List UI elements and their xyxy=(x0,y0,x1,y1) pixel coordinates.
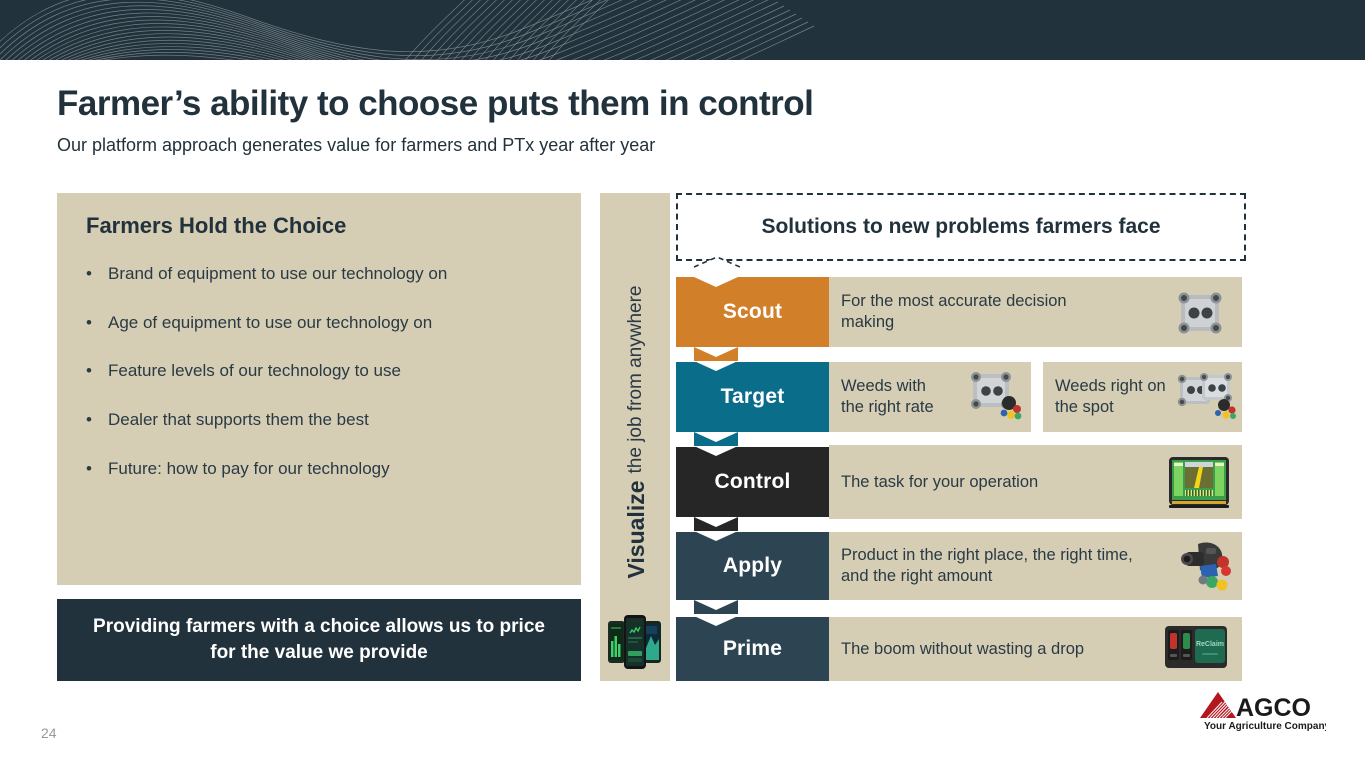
row-apply-label: Apply xyxy=(676,532,829,600)
row-target-label-text: Target xyxy=(721,385,785,409)
solutions-header-title: Solutions to new problems farmers face xyxy=(761,215,1160,239)
row-target-description-1-text: Weeds with the right rate xyxy=(829,376,951,417)
row-prime-label: Prime xyxy=(676,617,829,681)
chevron-notch-icon xyxy=(694,447,738,461)
list-item-label: Future: how to pay for our technology xyxy=(108,460,390,479)
header-decoration-band xyxy=(0,0,1365,60)
row-scout-description-text: For the most accurate decision making xyxy=(829,291,1111,332)
page-number: 24 xyxy=(41,725,57,741)
row-control: The task for your operation Control xyxy=(676,447,1242,517)
row-control-label-text: Control xyxy=(714,470,790,494)
terminal-display-image xyxy=(1168,455,1230,509)
chevron-notch-icon xyxy=(694,257,740,271)
page-subtitle: Our platform approach generates value fo… xyxy=(57,135,655,156)
chevron-notch-icon xyxy=(694,517,738,531)
farmers-choice-panel: Farmers Hold the Choice • Brand of equip… xyxy=(57,193,581,585)
phones-mockup-image xyxy=(607,615,663,669)
row-prime-label-text: Prime xyxy=(723,637,782,661)
chevron-notch-icon xyxy=(694,347,738,361)
row-scout-label: Scout xyxy=(676,277,829,347)
chevron-notch-icon xyxy=(694,432,738,446)
bullet-marker-icon: • xyxy=(86,265,108,284)
agco-wordmark: AGCO xyxy=(1236,694,1311,722)
page-title: Farmer’s ability to choose puts them in … xyxy=(57,84,813,124)
bullet-marker-icon: • xyxy=(86,460,108,479)
row-prime: The boom without wasting a drop ReClaim … xyxy=(676,617,1242,681)
agco-logo: AGCO Your Agriculture Company xyxy=(1196,688,1326,732)
list-item-label: Feature levels of our technology to use xyxy=(108,362,401,381)
list-item: • Future: how to pay for our technology xyxy=(86,460,556,479)
row-prime-description-text: The boom without wasting a drop xyxy=(829,639,1084,660)
value-callout-text: Providing farmers with a choice allows u… xyxy=(57,614,581,665)
chevron-notch-icon xyxy=(694,277,738,291)
row-scout-label-text: Scout xyxy=(723,300,782,324)
list-item-label: Brand of equipment to use our technology… xyxy=(108,265,447,284)
row-target-label: Target xyxy=(676,362,829,432)
visualize-strong-text: Visualize xyxy=(623,480,650,578)
row-apply-description: Product in the right place, the right ti… xyxy=(829,532,1242,600)
visualize-label: Visualize the job from anywhere xyxy=(601,204,671,660)
svg-text:ReClaim: ReClaim xyxy=(1196,641,1224,648)
drone-sensor-image xyxy=(1172,290,1228,336)
row-prime-description: The boom without wasting a drop ReClaim xyxy=(829,617,1242,681)
visualize-light-text: the job from anywhere xyxy=(625,285,647,473)
chevron-notch-icon xyxy=(694,617,738,631)
row-scout: For the most accurate decision making Sc… xyxy=(676,277,1242,347)
chevron-notch-icon xyxy=(694,600,738,614)
chevron-notch-icon xyxy=(694,362,738,376)
sprayer-nozzle-image xyxy=(967,371,1027,423)
row-target-description-2-text: Weeds right on the spot xyxy=(1043,376,1167,417)
applicator-valve-image xyxy=(1176,538,1234,594)
row-target-description-1: Weeds with the right rate xyxy=(829,362,1031,432)
list-item-label: Age of equipment to use our technology o… xyxy=(108,314,432,333)
row-control-label: Control xyxy=(676,447,829,517)
bullet-marker-icon: • xyxy=(86,314,108,333)
list-item: • Dealer that supports them the best xyxy=(86,411,556,430)
agco-triangle-icon xyxy=(1200,692,1236,718)
row-apply-description-text: Product in the right place, the right ti… xyxy=(829,545,1149,586)
agco-tagline: Your Agriculture Company xyxy=(1204,721,1326,732)
row-control-description: The task for your operation xyxy=(829,445,1242,519)
row-target-description-2: Weeds right on the spot xyxy=(1043,362,1242,432)
row-apply-label-text: Apply xyxy=(723,554,782,578)
bullet-marker-icon: • xyxy=(86,362,108,381)
row-control-description-text: The task for your operation xyxy=(829,472,1038,493)
farmers-choice-title: Farmers Hold the Choice xyxy=(86,213,346,239)
bullet-marker-icon: • xyxy=(86,411,108,430)
farmers-choice-bullet-list: • Brand of equipment to use our technolo… xyxy=(86,265,556,508)
nozzle-array-image xyxy=(1176,371,1240,423)
chevron-notch-icon xyxy=(694,532,738,546)
header-wave-graphic xyxy=(0,0,1365,60)
list-item: • Feature levels of our technology to us… xyxy=(86,362,556,381)
solutions-header-box: Solutions to new problems farmers face xyxy=(676,193,1246,261)
visualize-column: Visualize the job from anywhere xyxy=(600,193,670,681)
reclaim-controller-image: ReClaim xyxy=(1164,624,1228,672)
row-apply: Product in the right place, the right ti… xyxy=(676,532,1242,600)
row-target: Weeds with the right rate Weeds right on… xyxy=(676,362,1242,432)
row-scout-description: For the most accurate decision making xyxy=(829,277,1242,347)
list-item-label: Dealer that supports them the best xyxy=(108,411,369,430)
list-item: • Age of equipment to use our technology… xyxy=(86,314,556,333)
list-item: • Brand of equipment to use our technolo… xyxy=(86,265,556,284)
value-callout-box: Providing farmers with a choice allows u… xyxy=(57,599,581,681)
